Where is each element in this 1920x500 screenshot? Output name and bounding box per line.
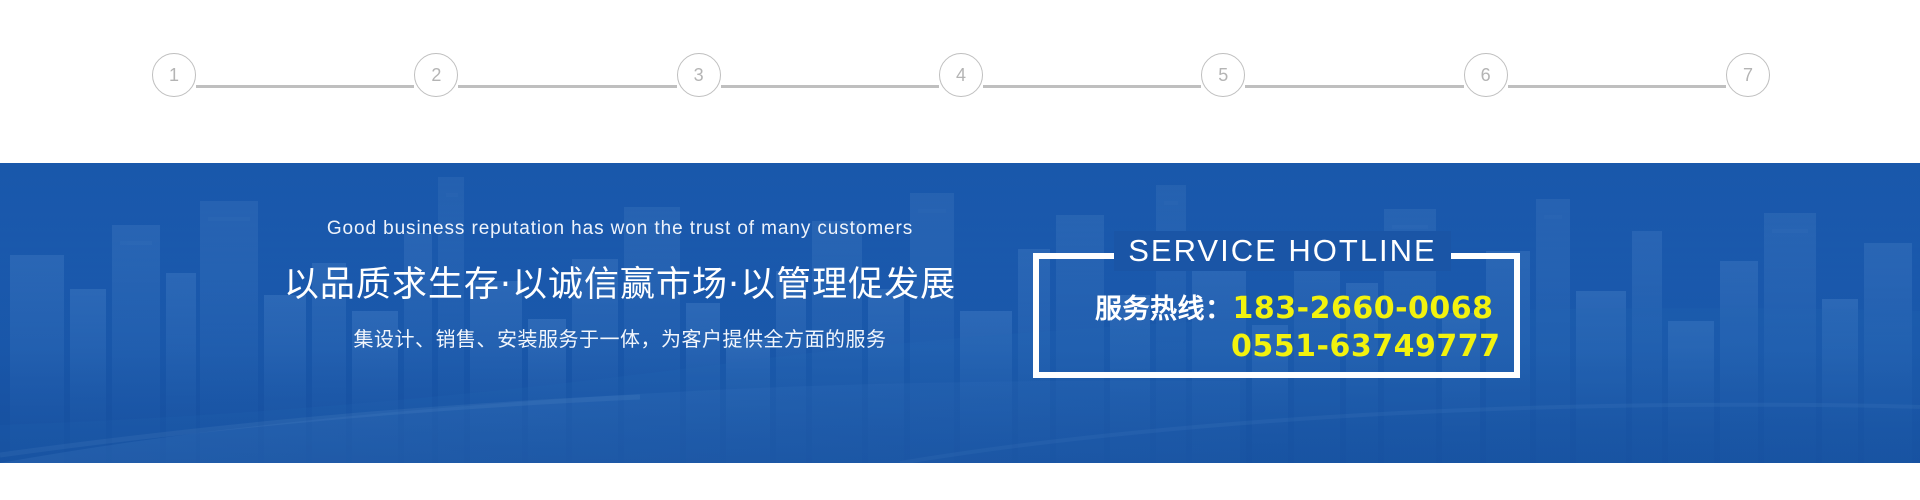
stepper-band: 1 2 3 4 5 6 7 [0,0,1920,163]
hotline-label: 服务热线： [1095,287,1233,326]
step-node-3[interactable]: 3 [677,53,721,97]
service-hotline-rows: 服务热线： 183-2660-0068 0551-63749777 [1039,287,1526,371]
slogan-chinese-headline: 以品质求生存·以诚信赢市场·以管理促发展 [280,256,960,307]
blue-banner: Good business reputation has won the tru… [0,163,1920,463]
hotline-number-landline[interactable]: 0551-63749777 [1231,329,1500,364]
step-node-7[interactable]: 7 [1726,53,1770,97]
step-node-4[interactable]: 4 [939,53,983,97]
step-node-label: 3 [694,66,704,84]
step-node-2[interactable]: 2 [414,53,458,97]
slogan-block: Good business reputation has won the tru… [280,218,960,352]
step-connector-line [721,85,939,88]
hotline-number-mobile[interactable]: 183-2660-0068 [1233,291,1494,326]
step-node-label: 5 [1218,66,1228,84]
step-node-label: 6 [1481,66,1491,84]
step-connector-line [196,85,414,88]
step-connector-line [1508,85,1726,88]
step-node-label: 7 [1743,66,1753,84]
hotline-row-primary: 服务热线： 183-2660-0068 [1039,287,1526,329]
step-node-1[interactable]: 1 [152,53,196,97]
step-node-label: 4 [956,66,966,84]
step-node-label: 2 [431,66,441,84]
step-connector-line [983,85,1201,88]
step-connector-line [1245,85,1463,88]
hotline-row-secondary: 0551-63749777 [1039,329,1526,371]
slogan-english-line: Good business reputation has won the tru… [280,218,960,240]
step-node-label: 1 [169,66,179,84]
slogan-chinese-subline: 集设计、销售、安装服务于一体，为客户提供全方面的服务 [280,323,960,352]
step-node-5[interactable]: 5 [1201,53,1245,97]
step-node-6[interactable]: 6 [1464,53,1508,97]
step-connector-line [458,85,676,88]
service-hotline-box: SERVICE HOTLINE 服务热线： 183-2660-0068 0551… [1033,253,1520,378]
